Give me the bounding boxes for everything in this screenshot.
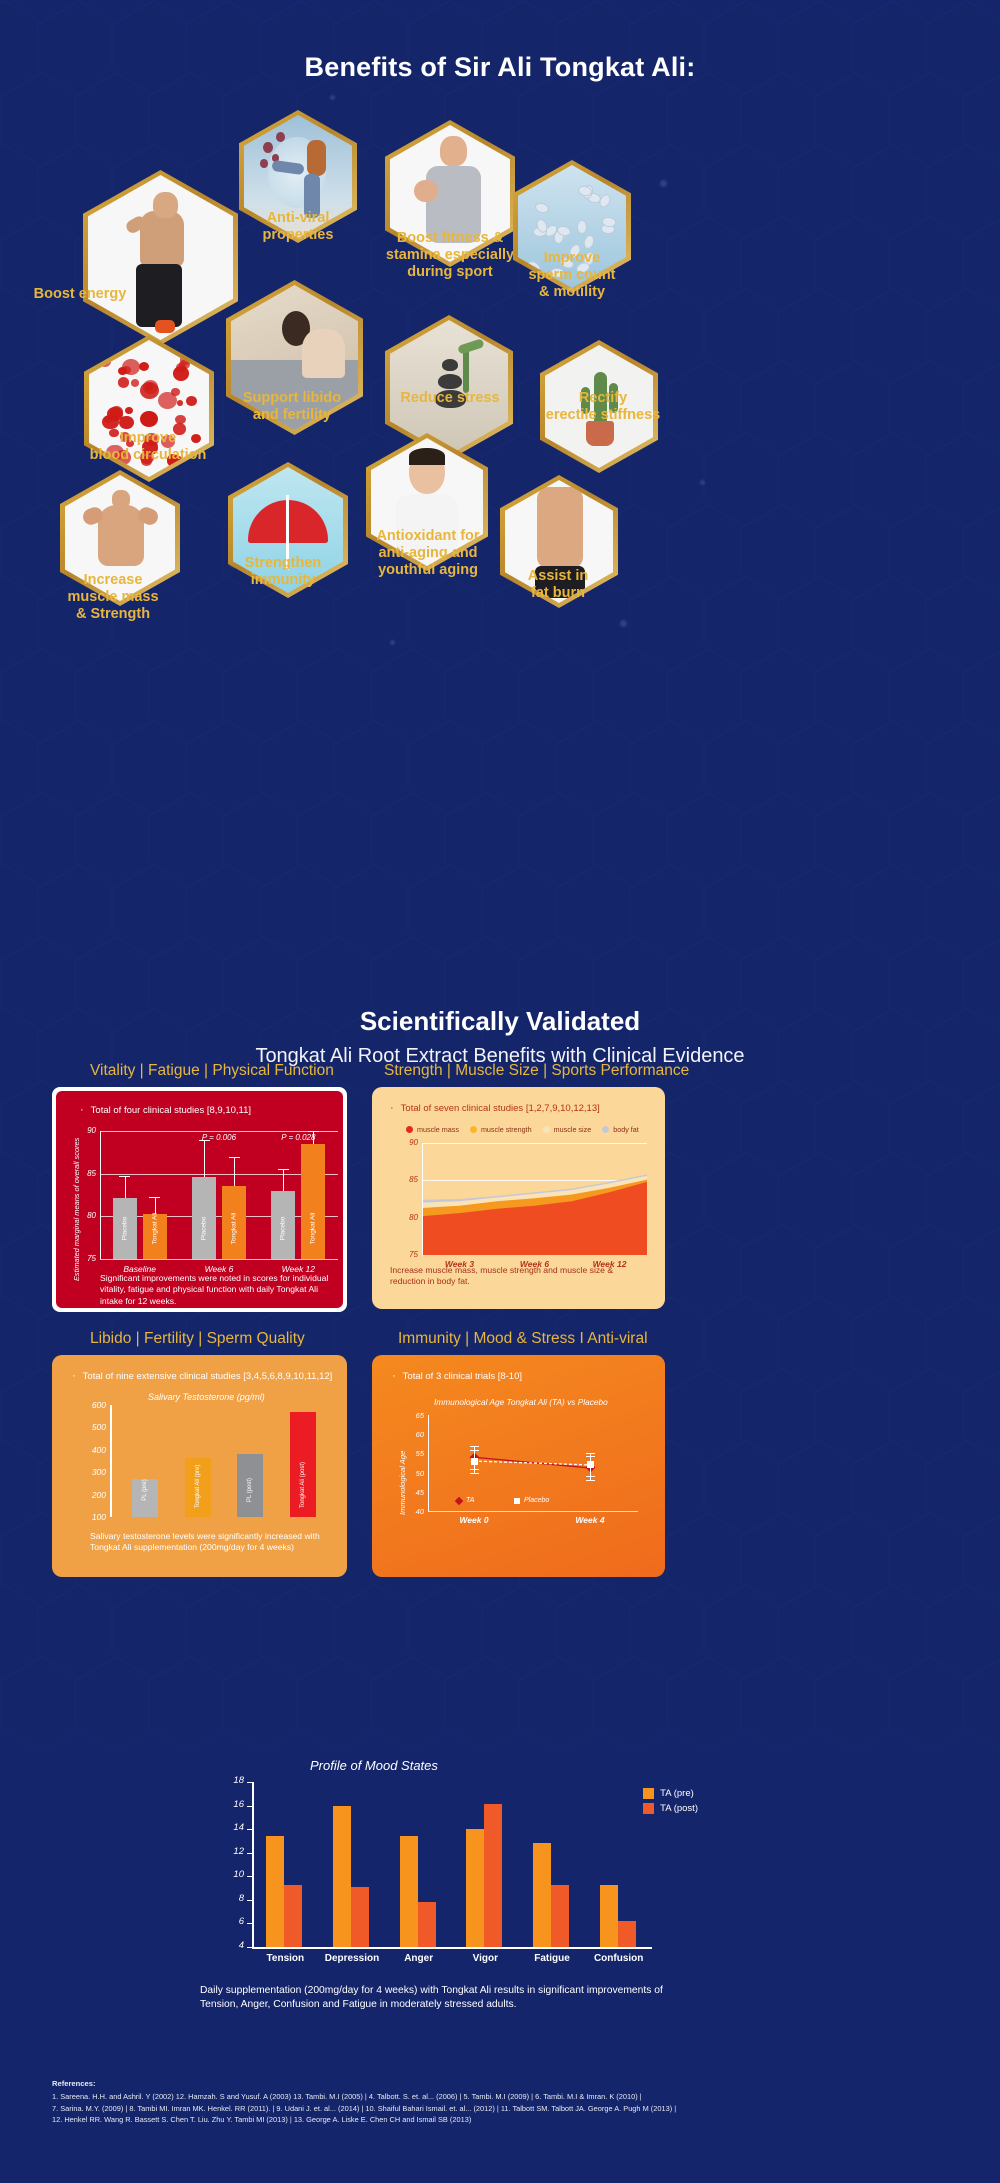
- bar-inline-label: PL (post): [247, 1472, 253, 1508]
- strength-caption: Increase muscle mass, muscle strength an…: [390, 1265, 648, 1288]
- bar-inline-label: Tongkat Ali: [151, 1213, 158, 1245]
- y-axis-line: [100, 1131, 101, 1259]
- libido-caption: Salivary testosterone levels were signif…: [90, 1531, 330, 1554]
- bar-inline-label: Placebo: [280, 1213, 287, 1245]
- error-bar-cap: [586, 1476, 595, 1477]
- bar-inline-label: PL (pre): [142, 1472, 148, 1508]
- line-placebo: [372, 1355, 665, 1555]
- bar-tension-ta-post-: [284, 1885, 302, 1947]
- references-heading: References:: [52, 2078, 952, 2089]
- error-bar: [125, 1176, 126, 1197]
- legend-label: TA (pre): [660, 1788, 694, 1799]
- error-bar-cap: [470, 1450, 479, 1451]
- panel-heading-vitality: Vitality | Fatigue | Physical Function: [90, 1062, 334, 1080]
- legend-swatch: [514, 1498, 520, 1504]
- bullet-icon: ·: [72, 1371, 76, 1382]
- y-tick-label: 10: [224, 1869, 244, 1880]
- x-category-label: Week 0: [444, 1515, 504, 1525]
- p-value-annotation: P = 0.006: [195, 1133, 243, 1142]
- y-tick-label: 16: [224, 1799, 244, 1810]
- bar-anger-ta-pre-: [400, 1836, 418, 1947]
- y-tick-label: 12: [224, 1846, 244, 1857]
- error-bar: [204, 1140, 205, 1177]
- bullet-icon: ·: [80, 1105, 84, 1116]
- reference-line: 12. Henkel RR. Wang R. Bassett S. Chen T…: [52, 2114, 952, 2125]
- y-tick-label: 75: [78, 1254, 96, 1263]
- y-tick-label: 300: [80, 1467, 106, 1477]
- mood-legend: TA (pre)TA (post): [643, 1788, 698, 1818]
- error-bar-cap: [586, 1453, 595, 1454]
- error-bar-cap: [278, 1169, 289, 1170]
- bar-inline-label: Tongkat Ali (pre): [195, 1472, 201, 1508]
- panel-immunity: · Total of 3 clinical trials [8-10] Immu…: [372, 1355, 665, 1577]
- error-bar: [155, 1197, 156, 1214]
- y-tick-label: 6: [224, 1916, 244, 1927]
- error-bar-cap: [149, 1197, 160, 1198]
- legend-item-placebo: Placebo: [514, 1497, 549, 1504]
- mood-caption: Daily supplementation (200mg/day for 4 w…: [200, 1984, 670, 2012]
- benefit-label-boost-energy: Boost energy: [0, 286, 175, 303]
- legend-label: Placebo: [524, 1497, 549, 1504]
- y-axis-line: [422, 1143, 423, 1255]
- y-axis-line: [252, 1782, 254, 1947]
- x-category-label: Confusion: [579, 1953, 659, 1964]
- bar-inline-label: Tongkat Ali (post): [300, 1472, 306, 1508]
- strength-area-svg: [372, 1087, 665, 1287]
- y-tick-label: 18: [224, 1775, 244, 1786]
- bar-inline-label: Placebo: [121, 1213, 128, 1245]
- reference-line: 7. Sarina. M.Y. (2009) | 8. Tambi MI. Im…: [52, 2103, 952, 2114]
- gridline: [100, 1131, 338, 1132]
- error-bar: [283, 1169, 284, 1191]
- scientific-section-header: Scientifically Validated Tongkat Ali Roo…: [0, 1006, 1000, 1068]
- reference-line: 1. Sareena. H.H. and Ashril. Y (2002) 12…: [52, 2091, 952, 2102]
- bar-anger-ta-post-: [418, 1902, 436, 1947]
- bar-confusion-ta-post-: [618, 1921, 636, 1947]
- bar-fatigue-ta-post-: [551, 1885, 569, 1947]
- bar-depression-ta-post-: [351, 1887, 369, 1947]
- legend-swatch: [643, 1803, 654, 1814]
- legend-item-ta-pre-: TA (pre): [643, 1788, 698, 1799]
- bar-inline-label: Placebo: [201, 1213, 208, 1245]
- error-bar-cap: [308, 1131, 319, 1132]
- panel-heading-libido: Libido | Fertility | Sperm Quality: [90, 1330, 305, 1348]
- bar-inline-label: Tongkat Ali: [231, 1213, 238, 1245]
- benefit-label-improve-blood: Improve blood circulation: [53, 430, 243, 464]
- y-tick-label: 80: [78, 1211, 96, 1220]
- error-bar-cap: [229, 1157, 240, 1158]
- vitality-caption: Significant improvements were noted in s…: [100, 1273, 340, 1307]
- y-tick-label: 14: [224, 1822, 244, 1833]
- error-bar-cap: [119, 1176, 130, 1177]
- y-axis-line: [110, 1405, 112, 1517]
- bar-fatigue-ta-pre-: [533, 1843, 551, 1947]
- p-value-annotation: P = 0.028: [274, 1133, 322, 1142]
- y-tick-label: 600: [80, 1400, 106, 1410]
- libido-bullet: · Total of nine extensive clinical studi…: [72, 1371, 342, 1382]
- legend-item-ta-post-: TA (post): [643, 1803, 698, 1814]
- panel-libido: · Total of nine extensive clinical studi…: [52, 1355, 347, 1577]
- y-tick-label: 100: [80, 1512, 106, 1522]
- benefit-label-rectify-erectile: Rectify erectile stiffness: [508, 390, 698, 424]
- mood-chart-title: Profile of Mood States: [310, 1758, 438, 1773]
- y-tick-label: 200: [80, 1490, 106, 1500]
- benefit-hex-boost-energy[interactable]: [83, 170, 238, 345]
- bar-confusion-ta-pre-: [600, 1885, 618, 1947]
- mood-chart: Profile of Mood States TA (pre)TA (post)…: [190, 1760, 690, 1970]
- bar-vigor-ta-pre-: [466, 1829, 484, 1947]
- section-title: Scientifically Validated: [0, 1006, 1000, 1037]
- x-category-label: Week 4: [560, 1515, 620, 1525]
- panel-heading-immunity: Immunity | Mood & Stress I Anti-viral: [398, 1330, 648, 1348]
- y-tick-label: 90: [78, 1126, 96, 1135]
- libido-chart-title: Salivary Testosterone (pg/ml): [148, 1392, 265, 1402]
- x-axis-line: [100, 1259, 338, 1260]
- marker-placebo: [471, 1458, 478, 1465]
- bar-depression-ta-pre-: [333, 1806, 351, 1947]
- vitality-bullet: · Total of four clinical studies [8,9,10…: [80, 1105, 330, 1116]
- bar-tension-ta-pre-: [266, 1836, 284, 1947]
- x-axis-line: [252, 1947, 652, 1949]
- panel-vitality: · Total of four clinical studies [8,9,10…: [52, 1087, 347, 1312]
- error-bar-cap: [470, 1473, 479, 1474]
- page-title: Benefits of Sir Ali Tongkat Ali:: [0, 52, 1000, 83]
- benefit-label-assist-fat-burn: Assist in fat burn: [463, 568, 653, 602]
- benefits-hex-grid: Boost energyAnti-viral propertiesBoost f…: [0, 100, 1000, 645]
- benefit-label-increase-muscle: Increase muscle mass & Strength: [18, 572, 208, 623]
- legend-swatch: [643, 1788, 654, 1799]
- panel-heading-strength: Strength | Muscle Size | Sports Performa…: [384, 1062, 689, 1080]
- legend-label: TA (post): [660, 1803, 698, 1814]
- y-tick-label: 8: [224, 1893, 244, 1904]
- marker-placebo: [587, 1461, 594, 1468]
- panel-strength: · Total of seven clinical studies [1,2,7…: [372, 1087, 665, 1309]
- bar-vigor-ta-post-: [484, 1804, 502, 1947]
- references-block: References: 1. Sareena. H.H. and Ashril.…: [52, 2078, 952, 2125]
- y-tick-label: 85: [78, 1169, 96, 1178]
- y-tick-label: 400: [80, 1445, 106, 1455]
- bar-inline-label: Tongkat Ali: [310, 1213, 317, 1245]
- benefit-label-improve-sperm: Improve sperm count & motility: [477, 250, 667, 301]
- y-tick-label: 500: [80, 1422, 106, 1432]
- y-tick-label: 4: [224, 1940, 244, 1951]
- error-bar: [234, 1157, 235, 1187]
